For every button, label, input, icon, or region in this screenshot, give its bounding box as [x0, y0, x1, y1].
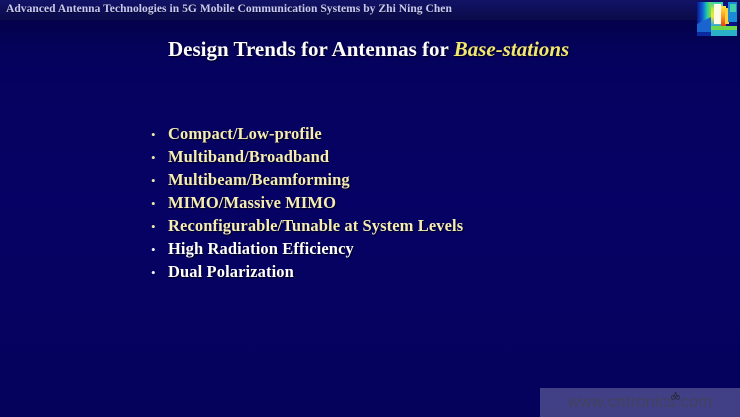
bullet-point-icon: •	[148, 220, 168, 233]
list-item: • Compact/Low-profile	[148, 124, 708, 147]
list-item: • Multiband/Broadband	[148, 147, 708, 170]
em-field-simulation-thumbnail-icon	[697, 2, 737, 36]
list-item-label: MIMO/Massive MIMO	[168, 193, 336, 213]
slide-header-band: Advanced Antenna Technologies in 5G Mobi…	[0, 0, 740, 20]
bullet-list: • Compact/Low-profile • Multiband/Broadb…	[148, 124, 708, 285]
bullet-point-icon: •	[148, 197, 168, 210]
list-item-label: Compact/Low-profile	[168, 124, 322, 144]
list-item-label: High Radiation Efficiency	[168, 239, 354, 259]
list-item: • Reconfigurable/Tunable at System Level…	[148, 216, 708, 239]
list-item: • Dual Polarization	[148, 262, 708, 285]
bullet-point-icon: •	[148, 174, 168, 187]
watermark-band: www.cntronics.com	[540, 388, 740, 417]
bullet-point-icon: •	[148, 243, 168, 256]
list-item-label: Multibeam/Beamforming	[168, 170, 350, 190]
bullet-point-icon: •	[148, 266, 168, 279]
slide-title-emphasis: Base-stations	[454, 37, 570, 61]
watermark-text: www.cntronics.com	[568, 393, 713, 412]
presentation-header-title: Advanced Antenna Technologies in 5G Mobi…	[6, 3, 452, 15]
slide-title-plain: Design Trends for Antennas for	[168, 37, 454, 61]
bullet-point-icon: •	[148, 128, 168, 141]
list-item: • MIMO/Massive MIMO	[148, 193, 708, 216]
list-item-label: Reconfigurable/Tunable at System Levels	[168, 216, 463, 236]
list-item: • High Radiation Efficiency	[148, 239, 708, 262]
bullet-point-icon: •	[148, 151, 168, 164]
presentation-slide: Advanced Antenna Technologies in 5G Mobi…	[0, 0, 740, 417]
slide-title: Design Trends for Antennas for Base-stat…	[168, 37, 569, 62]
cntronics-logo-icon	[671, 391, 680, 400]
list-item-label: Dual Polarization	[168, 262, 294, 282]
list-item-label: Multiband/Broadband	[168, 147, 329, 167]
list-item: • Multibeam/Beamforming	[148, 170, 708, 193]
